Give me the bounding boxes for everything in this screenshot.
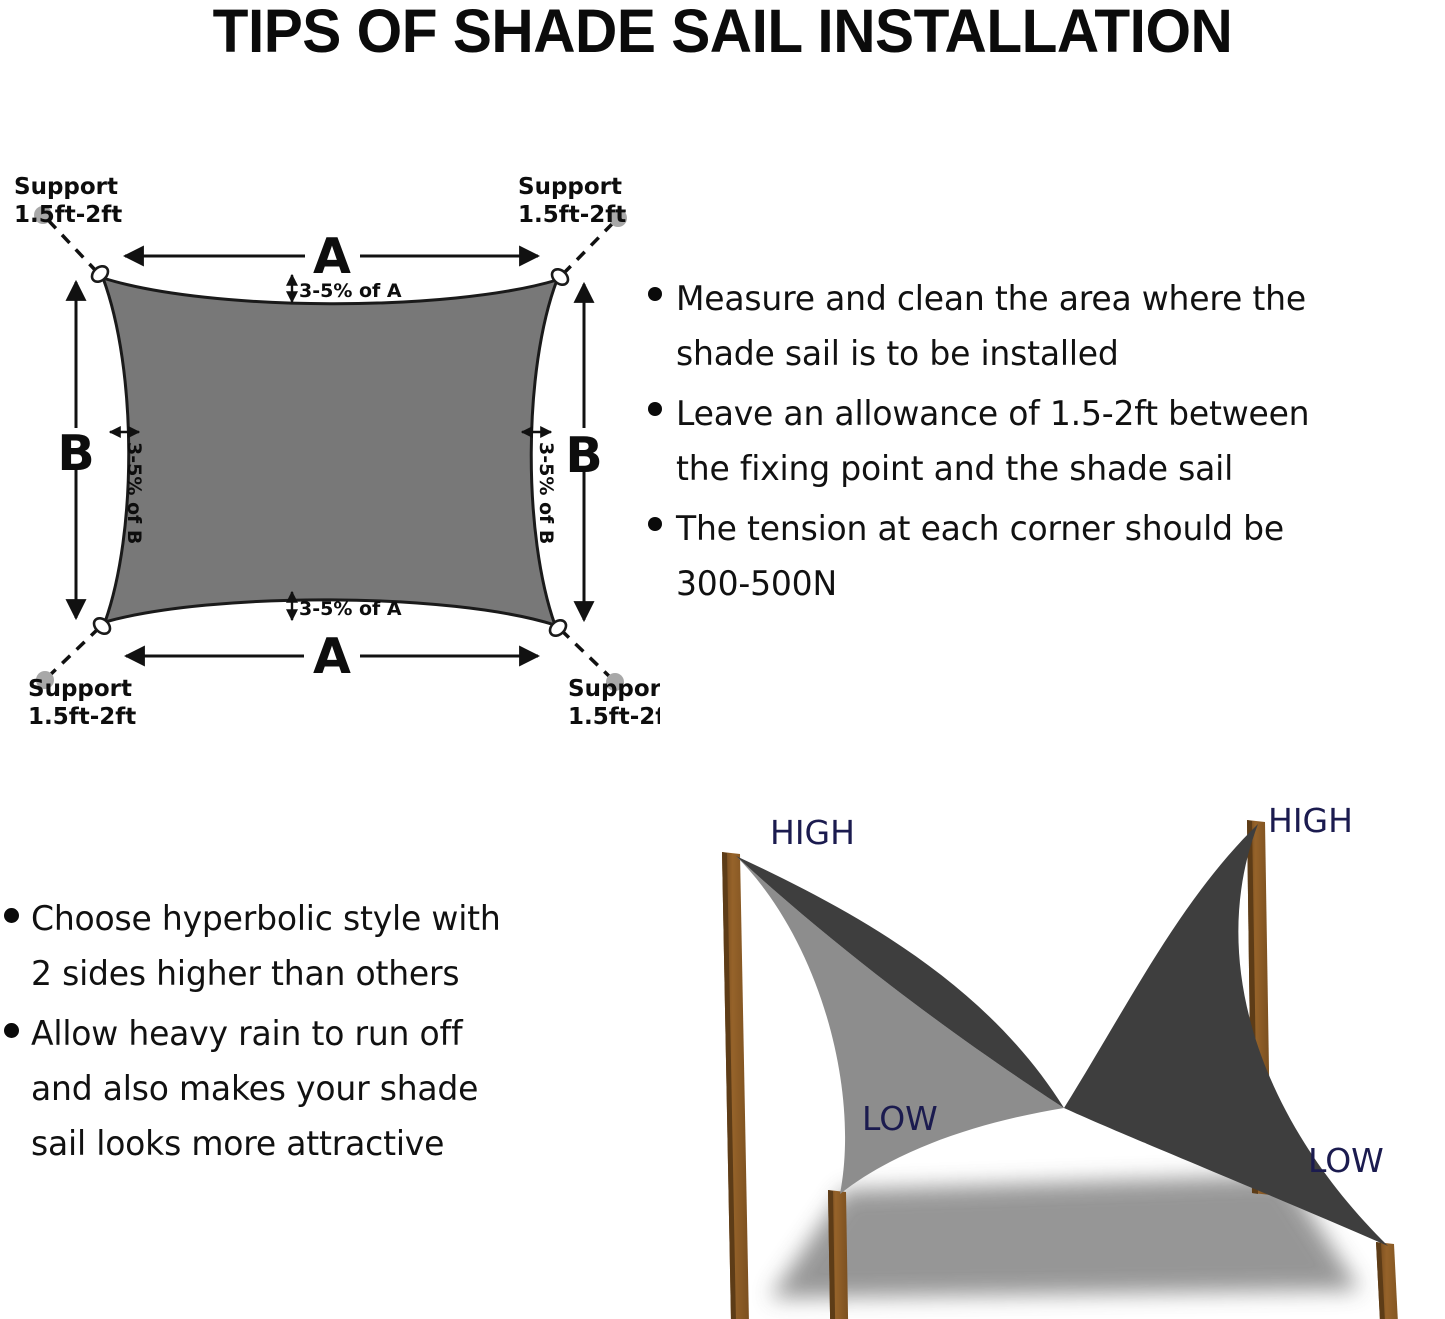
bullet-icon [648, 287, 662, 301]
support-label-bottom-right-line1: Support [568, 676, 660, 702]
support-label-top-right-line1: Support [518, 174, 622, 200]
support-label-bottom-left-line2: 1.5ft-2ft [28, 704, 136, 730]
tip-line: 300-500N [676, 557, 1284, 612]
tip-line: 2 sides higher than others [31, 947, 501, 1002]
dimension-a-top-label: A [313, 228, 351, 285]
rectangular-sail-diagram: A 3-5% of A A 3-5% of A B 3-5% of B B 3-… [0, 160, 660, 730]
support-label-bottom-right-line2: 1.5ft-2ft [568, 704, 660, 730]
tip-line: Choose hyperbolic style with [31, 892, 501, 947]
tip-line: the fixing point and the shade sail [676, 442, 1309, 497]
list-item: Measure and clean the area where the sha… [648, 272, 1445, 382]
curve-a-top-label: 3-5% of A [299, 280, 402, 302]
post-high-left [722, 852, 752, 1319]
tip-line: and also makes your shade [31, 1062, 478, 1117]
tips-list-top: Measure and clean the area where the sha… [648, 272, 1445, 617]
label-high-right: HIGH [1268, 801, 1353, 840]
support-label-top-left-line2: 1.5ft-2ft [14, 202, 122, 228]
hyperbolic-sail-diagram: HIGH HIGH LOW LOW [660, 790, 1445, 1319]
support-label-top-left: Support 1.5ft-2ft [14, 174, 122, 228]
curve-a-bottom-label: 3-5% of A [299, 598, 402, 620]
dimension-b-right-label: B [565, 427, 602, 484]
support-label-bottom-left: Support 1.5ft-2ft [28, 676, 136, 730]
post-low-right [1376, 1242, 1406, 1319]
tip-line: sail looks more attractive [31, 1117, 478, 1172]
curve-b-left-label: 3-5% of B [123, 442, 145, 544]
support-label-bottom-right: Support 1.5ft-2ft [568, 676, 660, 730]
support-label-bottom-left-line1: Support [28, 676, 132, 702]
page-title: TIPS OF SHADE SAIL INSTALLATION [29, 0, 1416, 66]
bullet-icon [4, 1023, 19, 1038]
list-item: Leave an allowance of 1.5-2ft between th… [648, 387, 1445, 497]
list-item: The tension at each corner should be 300… [648, 502, 1445, 612]
support-label-top-left-line1: Support [14, 174, 118, 200]
bullet-icon [648, 402, 662, 416]
label-high-left: HIGH [770, 813, 855, 852]
label-low-left: LOW [862, 1099, 938, 1138]
tip-line: Measure and clean the area where the [676, 272, 1306, 327]
support-label-top-right-line2: 1.5ft-2ft [518, 202, 626, 228]
support-label-top-right: Support 1.5ft-2ft [518, 174, 626, 228]
bullet-icon [4, 908, 19, 923]
tip-line: Allow heavy rain to run off [31, 1007, 478, 1062]
tip-line: shade sail is to be installed [676, 327, 1306, 382]
tips-list-bottom: Choose hyperbolic style with 2 sides hig… [4, 892, 624, 1177]
sail-shape [103, 278, 557, 625]
sail-panel-light [736, 856, 1064, 1194]
bullet-icon [648, 517, 662, 531]
list-item: Choose hyperbolic style with 2 sides hig… [4, 892, 624, 1002]
label-low-right: LOW [1308, 1141, 1384, 1180]
dimension-a-bottom-label: A [313, 628, 351, 685]
curve-b-right-label: 3-5% of B [535, 442, 557, 544]
dimension-b-left-label: B [57, 425, 94, 482]
tip-line: Leave an allowance of 1.5-2ft between [676, 387, 1309, 442]
tip-line: The tension at each corner should be [676, 502, 1284, 557]
list-item: Allow heavy rain to run off and also mak… [4, 1007, 624, 1172]
